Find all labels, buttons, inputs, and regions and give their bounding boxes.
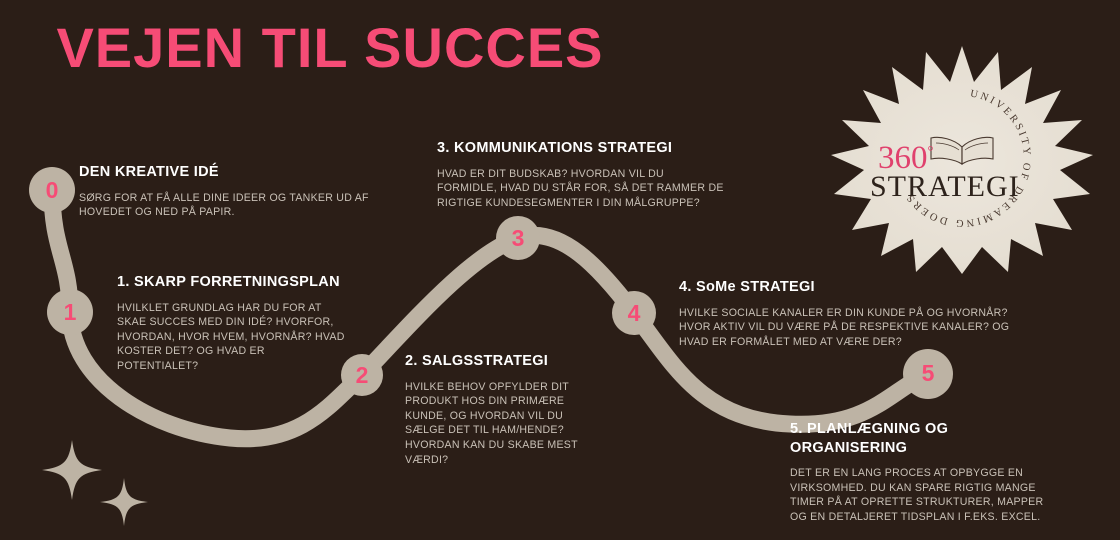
step-body-3: HVAD ER DIT BUDSKAB? HVORDAN VIL DU FORM… — [437, 167, 727, 211]
step-block-5: 5. PLANLÆGNING OG ORGANISERING DET ER EN… — [790, 420, 1060, 525]
node-circle-4 — [612, 291, 656, 335]
starburst-shape: UNIVERSITY OF DREAMING DOERS — [828, 42, 1096, 274]
step-title-3: 3. KOMMUNIKATIONS STRATEGI — [437, 139, 727, 158]
step-block-4: 4. SoMe STRATEGI HVILKE SOCIALE KANALER … — [679, 278, 1019, 349]
step-body-4: HVILKE SOCIALE KANALER ER DIN KUNDE PÅ O… — [679, 306, 1019, 350]
step-body-2: HVILKE BEHOV OPFYLDER DIT PRODUKT HOS DI… — [405, 380, 605, 468]
step-block-1: 1. SKARP FORRETNINGSPLAN HVILKLET GRUNDL… — [117, 273, 349, 374]
sparkle-icon-large — [42, 440, 102, 500]
sparkle-icon-small — [100, 478, 148, 526]
step-title-4: 4. SoMe STRATEGI — [679, 278, 1019, 297]
node-circle-0 — [29, 167, 75, 213]
step-block-0: DEN KREATIVE IDÉ SØRG FOR AT FÅ ALLE DIN… — [79, 163, 369, 220]
step-block-3: 3. KOMMUNIKATIONS STRATEGI HVAD ER DIT B… — [437, 139, 727, 210]
step-body-5: DET ER EN LANG PROCES AT OPBYGGE EN VIRK… — [790, 466, 1060, 524]
badge-brand-word: STRATEGI — [870, 172, 1020, 202]
node-circle-5 — [903, 349, 953, 399]
node-circle-1 — [47, 289, 93, 335]
logo-badge: UNIVERSITY OF DREAMING DOERS 360° STRATE… — [828, 42, 1096, 274]
step-title-0: DEN KREATIVE IDÉ — [79, 163, 369, 182]
step-title-2: 2. SALGSSTRATEGI — [405, 352, 605, 371]
step-body-0: SØRG FOR AT FÅ ALLE DINE IDEER OG TANKER… — [79, 191, 369, 220]
node-circle-3 — [496, 216, 540, 260]
sparkle-stars-decoration — [24, 434, 174, 538]
step-title-5: 5. PLANLÆGNING OG ORGANISERING — [790, 420, 1060, 457]
step-body-1: HVILKLET GRUNDLAG HAR DU FOR AT SKAE SUC… — [117, 301, 349, 374]
infographic-canvas: VEJEN TIL SUCCES 0 1 2 3 4 5 DEN KREATIV… — [0, 0, 1120, 540]
step-title-1: 1. SKARP FORRETNINGSPLAN — [117, 273, 349, 292]
step-block-2: 2. SALGSSTRATEGI HVILKE BEHOV OPFYLDER D… — [405, 352, 605, 467]
